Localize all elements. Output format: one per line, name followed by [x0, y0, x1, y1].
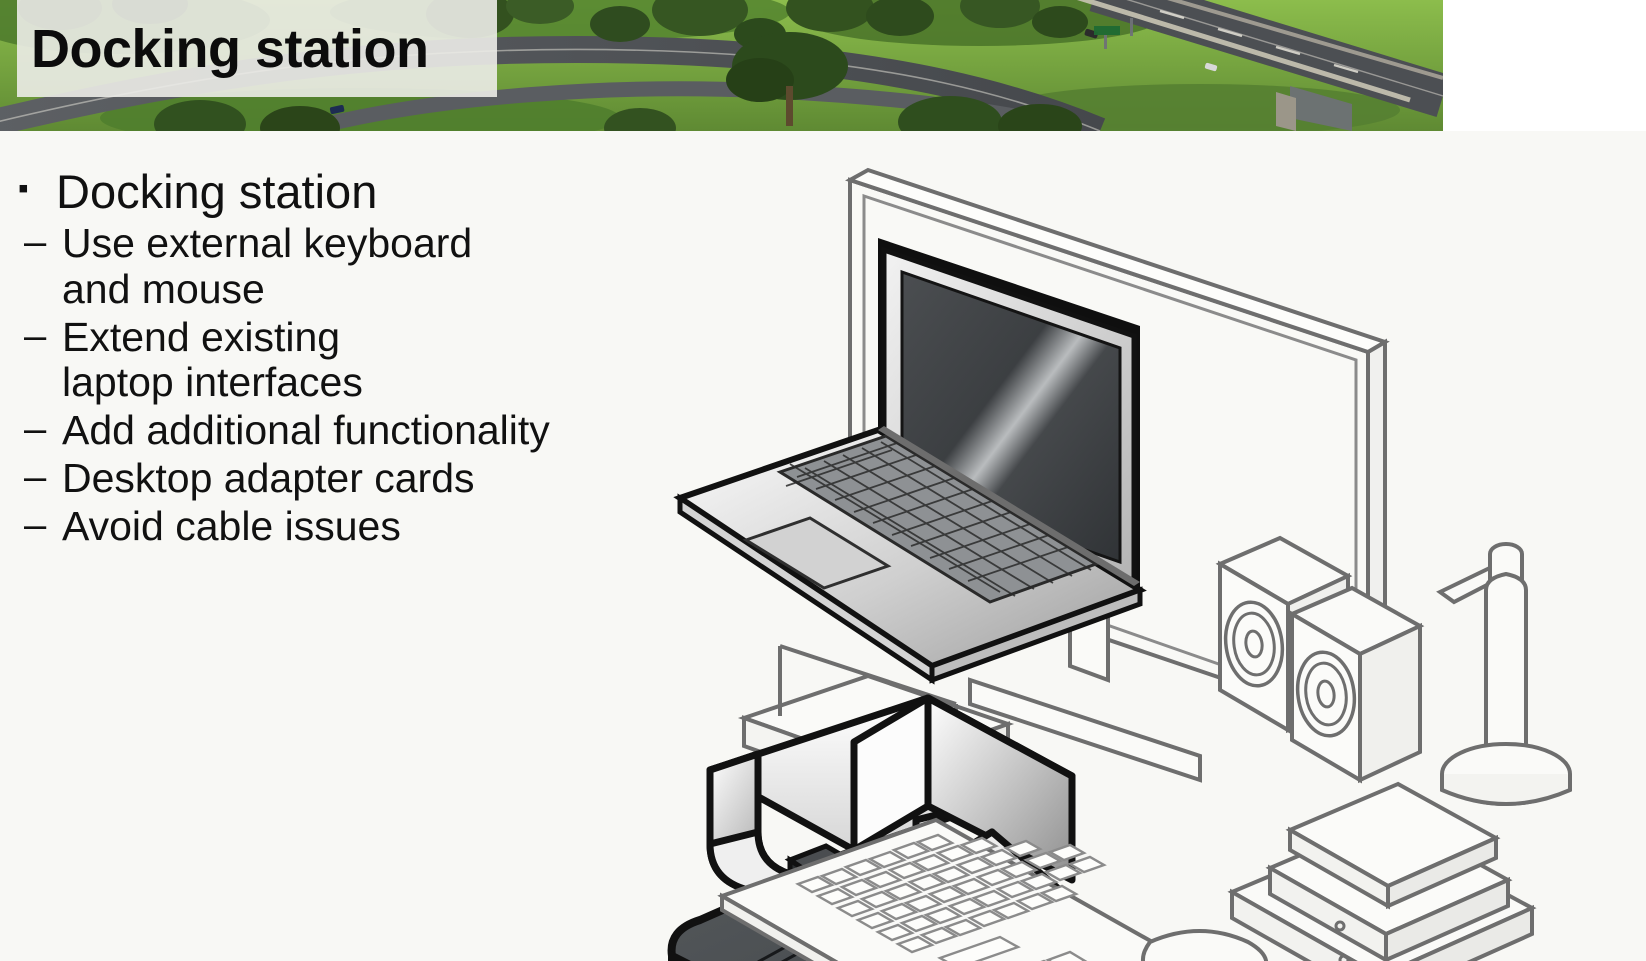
list-item-label: Extend existing laptop interfaces — [60, 315, 700, 407]
list-item: – Avoid cable issues — [0, 504, 700, 550]
dash-bullet-icon: – — [0, 315, 60, 357]
list-item: – Desktop adapter cards — [0, 456, 700, 502]
dash-bullet-icon: – — [0, 456, 60, 498]
list-item-label: Use external keyboard and mouse — [60, 221, 700, 313]
stacked-drives — [1232, 784, 1532, 961]
header-white-cutout — [1443, 0, 1646, 131]
dash-bullet-icon: – — [0, 408, 60, 450]
list-item: ▪ Docking station — [0, 166, 700, 218]
title-band: Docking station — [17, 0, 497, 97]
mouse — [1143, 931, 1266, 961]
dash-bullet-icon: – — [0, 221, 60, 263]
docking-station-illustration — [640, 120, 1646, 961]
list-item-label: Add additional functionality — [60, 408, 700, 454]
slide-canvas: Docking station ▪ Docking station – Use … — [0, 0, 1646, 961]
square-bullet-icon: ▪ — [0, 166, 56, 212]
desk-lamp — [1440, 544, 1570, 804]
bullet-list: ▪ Docking station – Use external keyboar… — [0, 166, 700, 552]
list-item: – Add additional functionality — [0, 408, 700, 454]
speakers — [1220, 538, 1420, 780]
external-keyboard — [722, 820, 1202, 961]
list-item: – Extend existing laptop interfaces — [0, 315, 700, 407]
page-title: Docking station — [17, 22, 429, 76]
laptop — [680, 238, 1140, 680]
list-item-label: Desktop adapter cards — [60, 456, 700, 502]
list-item: – Use external keyboard and mouse — [0, 221, 700, 313]
list-item-label: Avoid cable issues — [60, 504, 700, 550]
dash-bullet-icon: – — [0, 504, 60, 546]
list-item-label: Docking station — [56, 166, 700, 218]
